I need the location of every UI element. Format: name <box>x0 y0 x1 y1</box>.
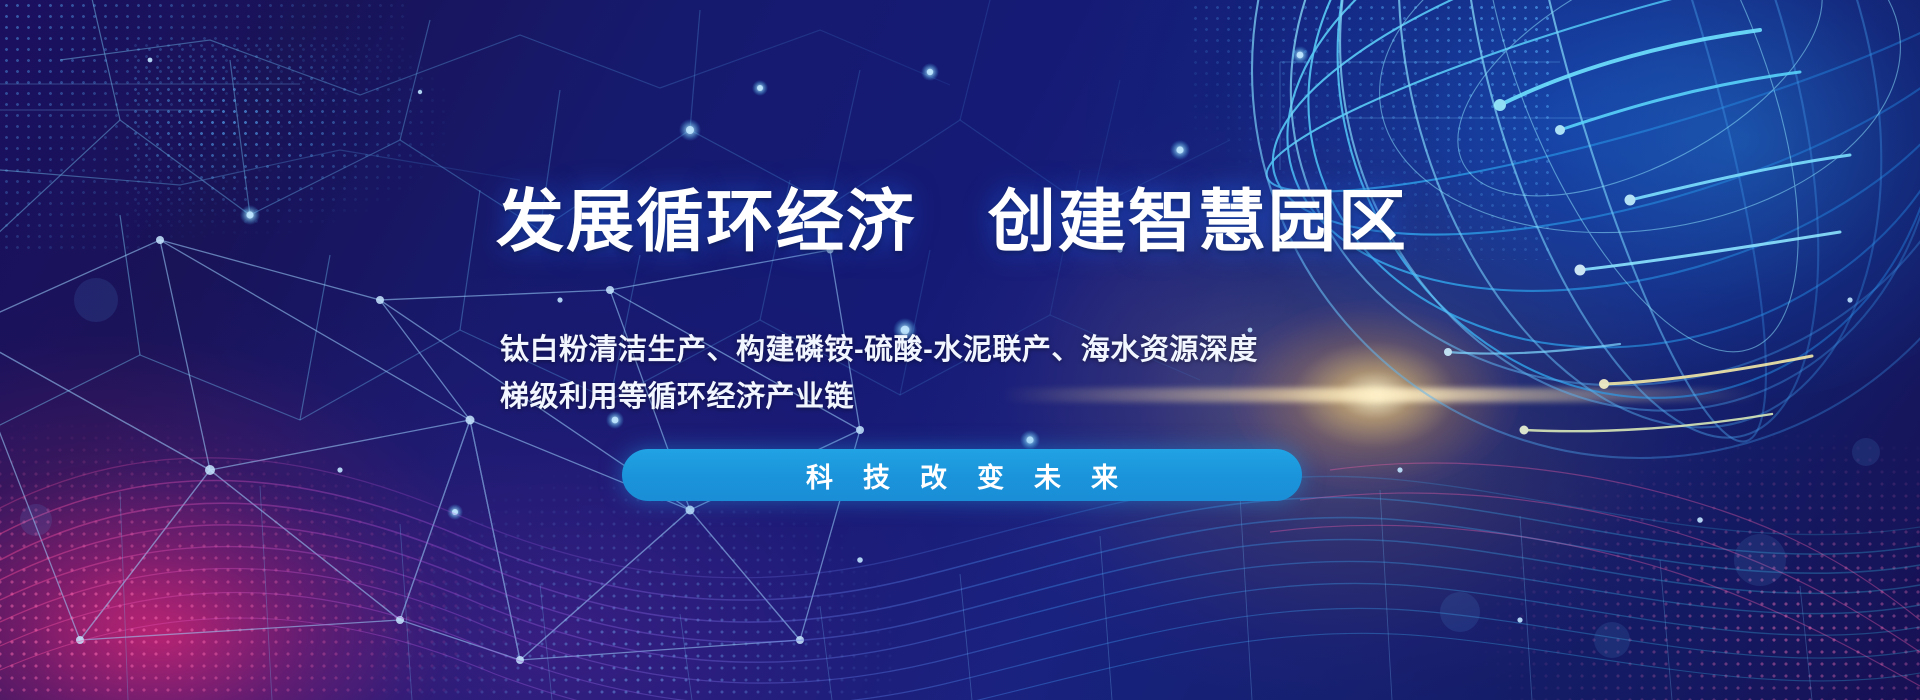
banner-content: 发展循环经济 创建智慧园区 钛白粉清洁生产、构建磷铵-硫酸-水泥联产、海水资源深… <box>0 0 1920 700</box>
headline-part-2: 创建智慧园区 <box>988 184 1408 260</box>
subtitle: 钛白粉清洁生产、构建磷铵-硫酸-水泥联产、海水资源深度 梯级利用等循环经济产业链 <box>500 327 1258 421</box>
page-title: 发展循环经济 创建智慧园区 <box>496 186 1408 258</box>
subtitle-line-2: 梯级利用等循环经济产业链 <box>500 374 1258 421</box>
headline-part-1: 发展循环经济 <box>496 184 916 260</box>
cta-button[interactable]: 科技改变未来 <box>622 449 1302 501</box>
subtitle-line-1: 钛白粉清洁生产、构建磷铵-硫酸-水泥联产、海水资源深度 <box>500 327 1258 374</box>
hero-banner: 发展循环经济 创建智慧园区 钛白粉清洁生产、构建磷铵-硫酸-水泥联产、海水资源深… <box>0 0 1920 700</box>
